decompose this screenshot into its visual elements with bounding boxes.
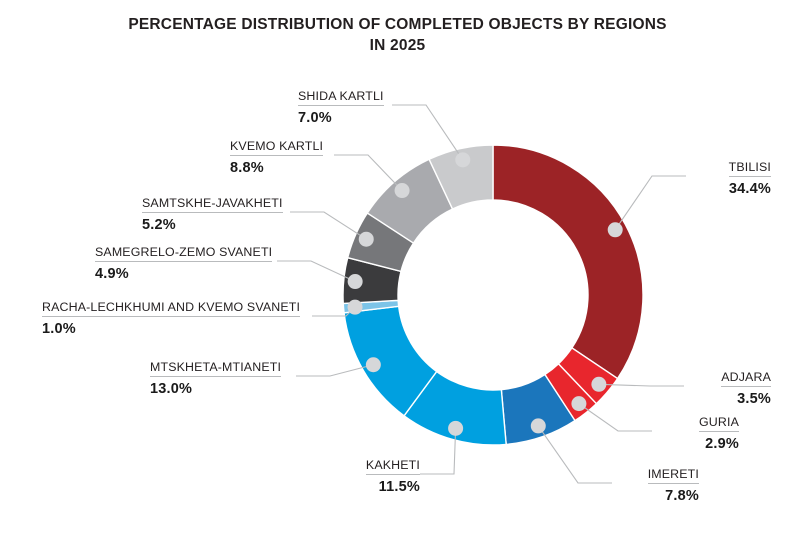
leader-marker-dot	[455, 152, 470, 167]
slice-label-mtskheta-mtianeti-name: MTSKHETA-MTIANETI	[150, 360, 281, 377]
leader-marker-dot	[359, 232, 374, 247]
leader-marker-dot	[348, 300, 363, 315]
slice-label-samegrelo-zemo-svaneti-name: SAMEGRELO-ZEMO SVANETI	[95, 245, 272, 262]
slice-label-racha-lechkhumi[interactable]: RACHA-LECHKHUMI AND KVEMO SVANETI 1.0%	[42, 300, 300, 338]
slice-label-shida-kartli[interactable]: SHIDA KARTLI 7.0%	[298, 89, 384, 127]
leader-marker-dot	[608, 222, 623, 237]
slice-label-tbilisi-value: 34.4%	[729, 181, 771, 198]
slice-label-shida-kartli-value: 7.0%	[298, 110, 384, 127]
slice-label-imereti-value: 7.8%	[648, 488, 699, 505]
slice-label-kakheti[interactable]: KAKHETI 11.5%	[366, 458, 420, 496]
slice-label-imereti[interactable]: IMERETI 7.8%	[648, 467, 699, 505]
slice-label-samegrelo-zemo-svaneti-value: 4.9%	[95, 266, 272, 283]
slice-label-samtskhe-javakheti-name: SAMTSKHE-JAVAKHETI	[142, 196, 283, 213]
leader-marker-dot	[448, 421, 463, 436]
slice-label-mtskheta-mtianeti-value: 13.0%	[150, 381, 281, 398]
slice-label-kvemo-kartli[interactable]: KVEMO KARTLI 8.8%	[230, 139, 323, 177]
slice-label-adjara-value: 3.5%	[721, 391, 771, 408]
slice-label-adjara-name: ADJARA	[721, 370, 771, 387]
leader-marker-dot	[395, 183, 410, 198]
slice-label-samtskhe-javakheti[interactable]: SAMTSKHE-JAVAKHETI 5.2%	[142, 196, 283, 234]
slice-label-tbilisi[interactable]: TBILISI 34.4%	[729, 160, 771, 198]
slice-label-adjara[interactable]: ADJARA 3.5%	[721, 370, 771, 408]
donut-slice[interactable]	[493, 145, 643, 379]
leader-line	[615, 176, 686, 230]
leader-marker-dot	[348, 274, 363, 289]
slice-label-kvemo-kartli-value: 8.8%	[230, 160, 323, 177]
leader-marker-dot	[366, 357, 381, 372]
slice-label-samtskhe-javakheti-value: 5.2%	[142, 217, 283, 234]
slice-label-imereti-name: IMERETI	[648, 467, 699, 484]
slice-label-kakheti-name: KAKHETI	[366, 458, 420, 475]
slice-label-samegrelo-zemo-svaneti[interactable]: SAMEGRELO-ZEMO SVANETI 4.9%	[95, 245, 272, 283]
leader-marker-dot	[531, 418, 546, 433]
slice-label-guria-name: GURIA	[699, 415, 739, 432]
chart-canvas: PERCENTAGE DISTRIBUTION OF COMPLETED OBJ…	[0, 0, 795, 535]
slice-label-guria[interactable]: GURIA 2.9%	[699, 415, 739, 453]
slice-label-mtskheta-mtianeti[interactable]: MTSKHETA-MTIANETI 13.0%	[150, 360, 281, 398]
donut-slices	[343, 145, 643, 445]
leader-marker-dot	[571, 396, 586, 411]
slice-label-kakheti-value: 11.5%	[366, 479, 420, 496]
slice-label-guria-value: 2.9%	[699, 436, 739, 453]
slice-label-kvemo-kartli-name: KVEMO KARTLI	[230, 139, 323, 156]
slice-label-shida-kartli-name: SHIDA KARTLI	[298, 89, 384, 106]
slice-label-racha-lechkhumi-value: 1.0%	[42, 321, 300, 338]
slice-label-racha-lechkhumi-name: RACHA-LECHKHUMI AND KVEMO SVANETI	[42, 300, 300, 317]
slice-label-tbilisi-name: TBILISI	[729, 160, 771, 177]
leader-marker-dot	[591, 377, 606, 392]
